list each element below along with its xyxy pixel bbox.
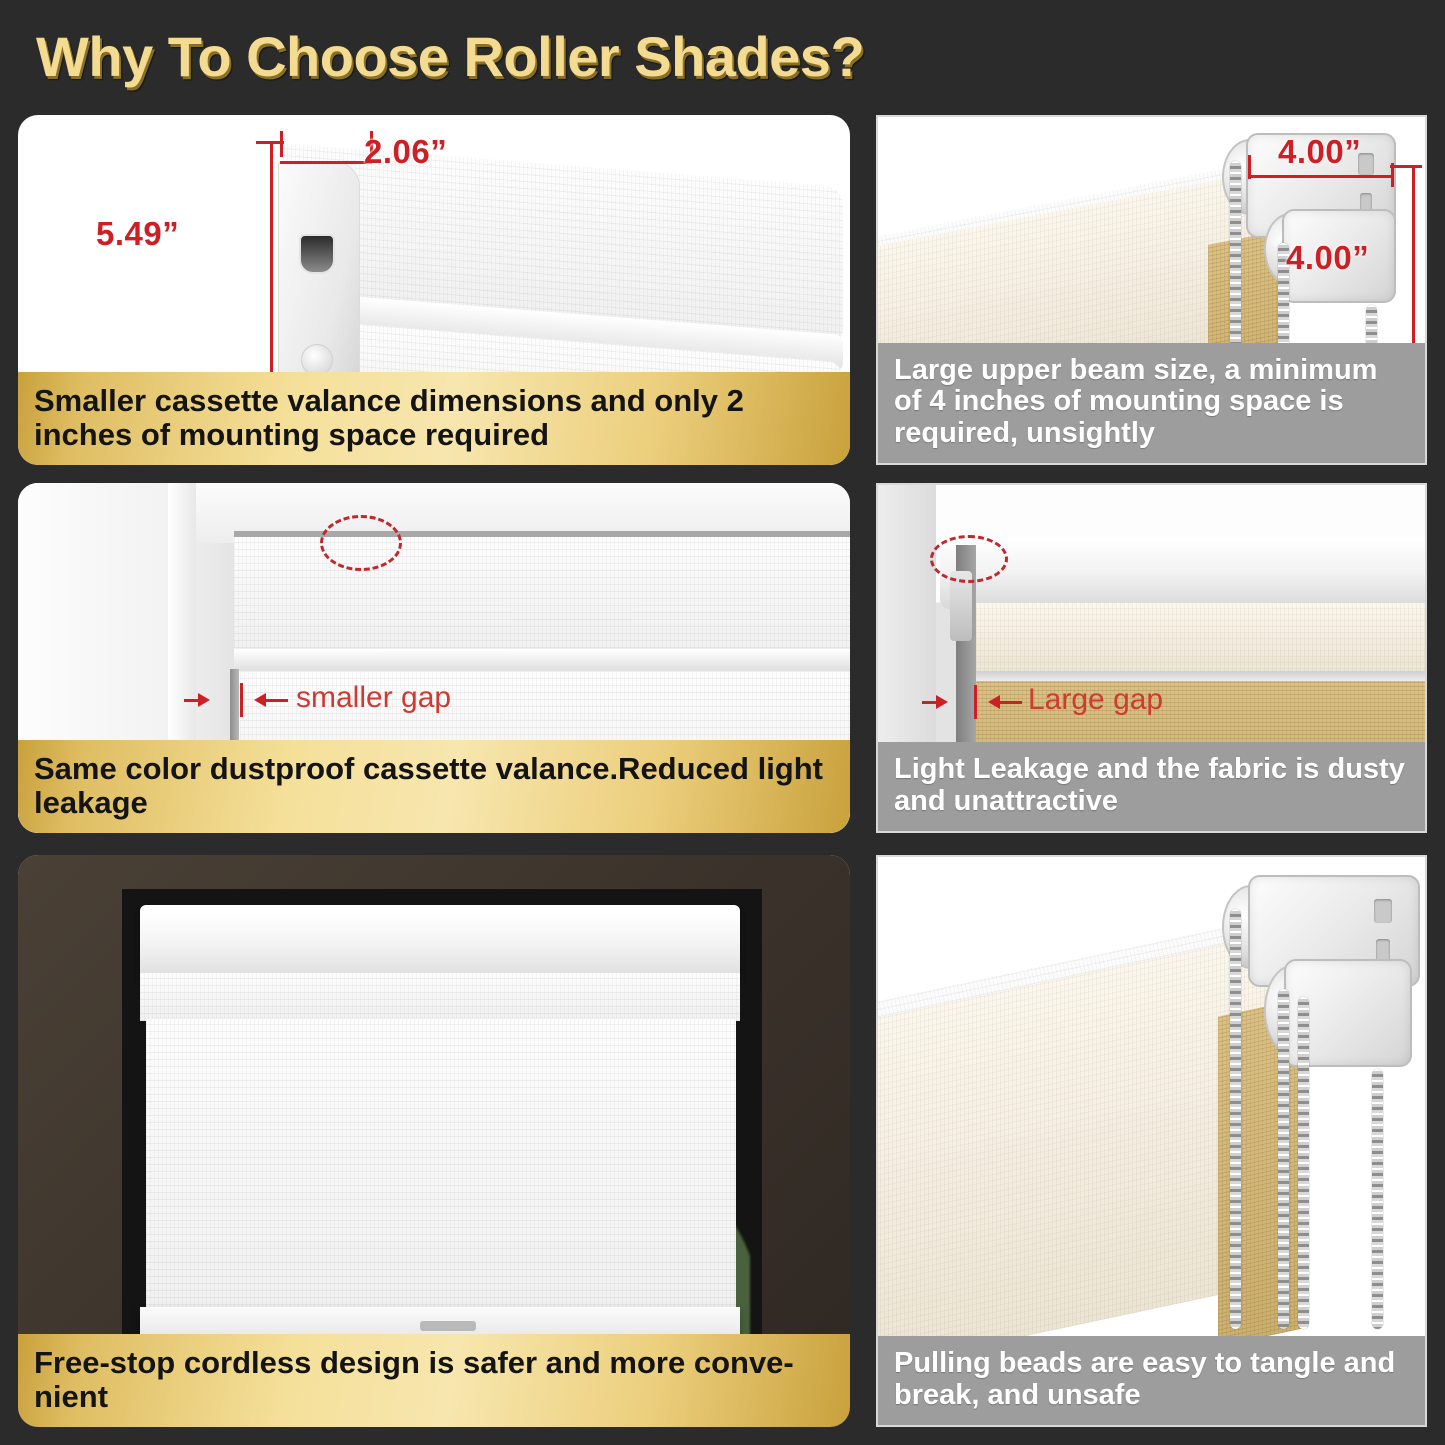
shade-main-fabric: [146, 1019, 736, 1319]
beam-height-top-tick: [1390, 165, 1422, 168]
bracket-top-slot-a: [1374, 899, 1392, 923]
roller-tube-cover: [940, 537, 1425, 609]
width-dim-left-tick: [280, 131, 283, 157]
panel-free-stop-cordless: Free-stop cordless design is safer and m…: [18, 855, 850, 1427]
caption-light-leakage: Light Leakage and the fabric is dusty an…: [878, 742, 1425, 831]
leak-highlight-circle: [930, 535, 1008, 583]
large-gap-marker-line: [974, 685, 977, 719]
bottom-rail-grip: [420, 1321, 476, 1331]
gap-arrow-left-shaft: [184, 699, 202, 702]
width-dim-line: [280, 161, 372, 164]
cream-fabric-band: [964, 603, 1425, 675]
large-gap-arrow-left: [936, 695, 948, 709]
panel-dustproof-cassette-valance: smaller gap Same color dustproof cassett…: [18, 483, 850, 833]
caption-large-upper-beam: Large upper beam size, a minimum of 4 in…: [878, 343, 1425, 463]
beam-width-dim-line: [1248, 175, 1394, 178]
width-dim-label: 2.06”: [364, 133, 447, 171]
large-gap-arrow-right-shaft: [1000, 701, 1022, 704]
height-dim-top-tick: [256, 141, 284, 144]
bead-chain-4: [1372, 1069, 1383, 1329]
fabric-rail: [964, 671, 1425, 681]
panel-pulling-beads: Pulling beads are easy to tangle and bre…: [876, 855, 1427, 1427]
caption-free-stop-cordless: Free-stop cordless design is safer and m…: [18, 1334, 850, 1427]
caption-pulling-beads: Pulling beads are easy to tangle and bre…: [878, 1336, 1425, 1425]
valance-lower-fold: [140, 973, 740, 1021]
gap-label-smaller: smaller gap: [296, 681, 451, 715]
end-cap-hook-slot: [299, 234, 335, 274]
gap-arrow-right: [254, 693, 266, 707]
beam-height-dim-line: [1412, 165, 1415, 355]
beam-height-dim-label: 4.00”: [1286, 239, 1369, 277]
gap-highlight-circle: [320, 515, 402, 571]
valance-end-cap: [278, 161, 360, 407]
panel-light-leakage: Large gap Light Leakage and the fabric i…: [876, 483, 1427, 833]
gap-marker-line: [240, 683, 243, 717]
caption-cassette-valance-dimensions: Smaller cassette valance dimensions and …: [18, 372, 850, 465]
large-gap-arrow-right: [988, 695, 1000, 709]
gap-label-large: Large gap: [1028, 683, 1163, 717]
valance-bottom-lip: [234, 649, 850, 671]
beam-width-left-tick: [1248, 155, 1251, 179]
gap-arrow-right-shaft: [266, 699, 288, 702]
bead-chain-1: [1230, 909, 1241, 1329]
comparison-grid: 2.06” 5.49” Smaller cassette valance dim…: [0, 0, 1445, 1445]
cassette-valance-bar: [140, 905, 740, 979]
height-dim-label: 5.49”: [96, 215, 179, 253]
panel-cassette-valance-dimensions: 2.06” 5.49” Smaller cassette valance dim…: [18, 115, 850, 465]
caption-dustproof-cassette-valance: Same color dustproof cassette valance.Re…: [18, 740, 850, 833]
bead-chain-3: [1298, 997, 1309, 1329]
bead-chain-2: [1278, 989, 1289, 1329]
panel-large-upper-beam: 4.00” 4.00” Large upper beam size, a min…: [876, 115, 1427, 465]
beam-width-dim-label: 4.00”: [1278, 133, 1361, 171]
